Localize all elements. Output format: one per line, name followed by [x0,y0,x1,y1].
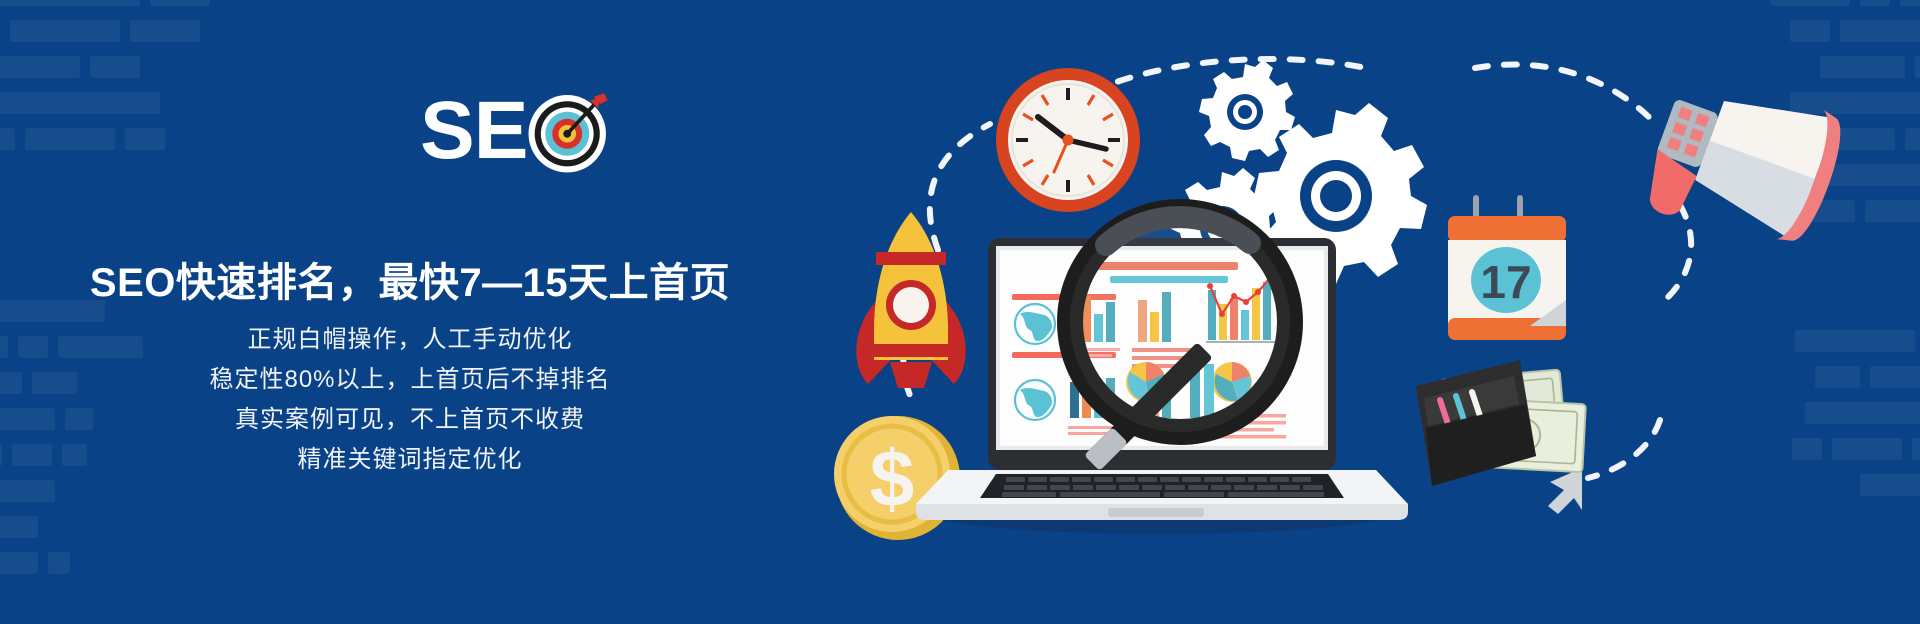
subline-4: 精准关键词指定优化 [0,440,820,480]
rocket-icon [856,212,965,388]
seo-logo: SE [420,88,613,174]
headline: SEO快速排名，最快7—15天上首页 [0,250,820,308]
wallet-cash-icon: $ $ [1416,360,1586,486]
calendar-icon: 17 [1448,198,1566,340]
text-column: SE SEO快速排名，最快7—15天上首页 正规白帽操作，人工手动优化 稳定性8… [0,0,820,624]
seo-promo-banner: SE SEO快速排名，最快7—15天上首页 正规白帽操作，人工手动优化 稳定性8… [0,0,1920,624]
subline-3: 真实案例可见，不上首页不收费 [0,400,820,440]
seo-logo-text: SE [420,91,527,171]
dollar-sign-label: $ [870,434,915,523]
clock-icon [996,68,1140,212]
target-bullseye-icon [525,88,613,176]
subline-list: 正规白帽操作，人工手动优化 稳定性80%以上，上首页后不掉排名 真实案例可见，不… [0,320,820,480]
subline-1: 正规白帽操作，人工手动优化 [0,320,820,360]
seo-analytics-illustration: $ [820,0,1920,624]
megaphone-icon [1637,61,1852,264]
calendar-day-label: 17 [1480,256,1531,308]
cursor-arrow-right-icon [1548,468,1582,514]
subline-2: 稳定性80%以上，上首页后不掉排名 [0,360,820,400]
